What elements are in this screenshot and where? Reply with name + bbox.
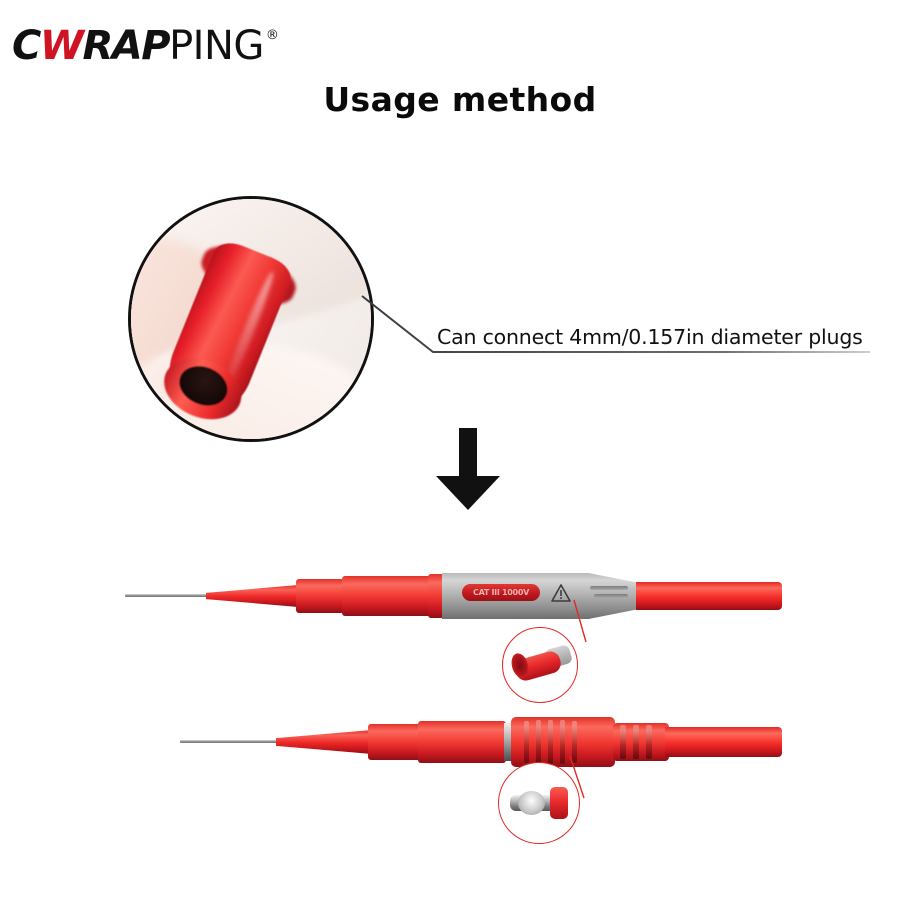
probe-red-cone <box>206 585 298 607</box>
handle-grip-groove <box>590 586 628 590</box>
probe-mid-barrel <box>342 576 432 616</box>
photo-content <box>131 199 371 439</box>
probe-red-cable <box>665 727 782 757</box>
brand-logo: CWRAPPING ® <box>12 26 279 72</box>
probe-mid-barrel <box>418 721 506 763</box>
registered-trademark-icon: ® <box>266 28 279 43</box>
socket-closeup-photo <box>128 196 374 442</box>
female-socket-detail-circle <box>502 627 578 703</box>
page-title: Usage method <box>0 80 900 119</box>
logo-letter-c: C <box>12 23 40 69</box>
logo-segment-ping: PING <box>169 23 264 69</box>
logo-letter-w: W <box>40 23 83 69</box>
probe-front-barrel <box>296 579 344 613</box>
probe-front-barrel <box>368 724 422 760</box>
cat-rating-label: CAT III 1000V <box>473 588 529 597</box>
callout-text: Can connect 4mm/0.157in diameter plugs <box>437 325 863 349</box>
probe-collar <box>428 574 444 618</box>
detail-plug-red-base <box>550 787 568 819</box>
male-banana-plug-detail-circle <box>498 762 580 844</box>
probe-needle-tip <box>125 594 209 597</box>
logo-segment-rap: RAP <box>82 23 169 69</box>
probe-bottom <box>120 700 780 780</box>
brand-logo-text: CWRAPPING <box>12 26 264 66</box>
probe-needle-tip <box>180 740 280 743</box>
probe-red-cone <box>276 730 372 754</box>
probe-top: CAT III 1000V <box>120 552 780 632</box>
down-arrow-icon <box>428 428 508 510</box>
detail-plug-spring-blade <box>518 791 545 815</box>
